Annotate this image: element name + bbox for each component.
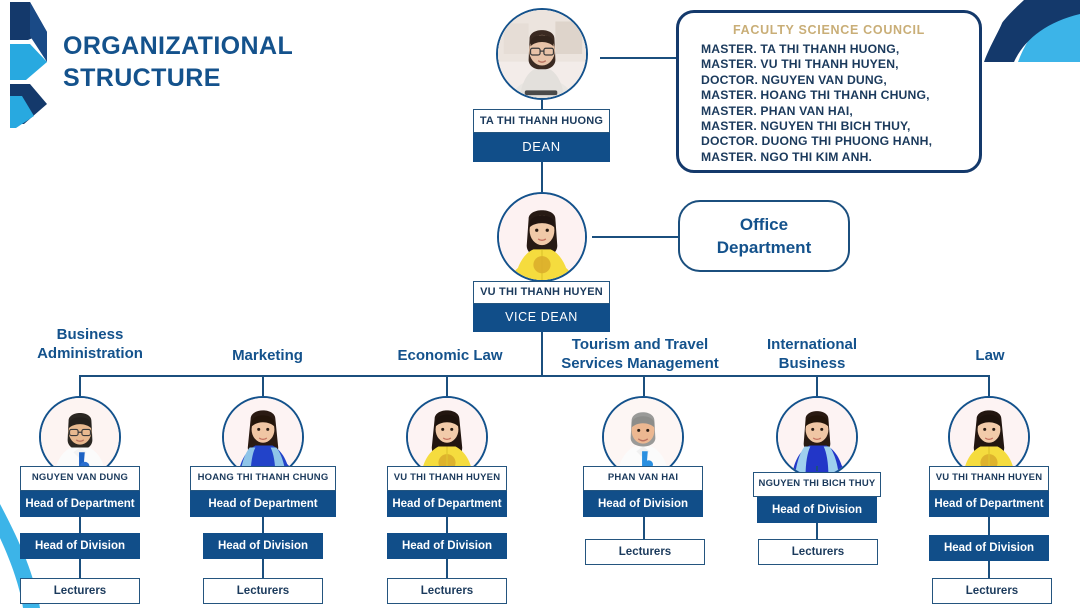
avatar-vice-dean: [497, 192, 587, 282]
council-title: FACULTY SCIENCE COUNCIL: [679, 23, 979, 37]
office-label-line1: Office: [717, 213, 811, 236]
dept-heading-line2: Services Management: [545, 354, 735, 373]
dept-leaf-box-6: Lecturers: [932, 578, 1052, 604]
connector-bus-to-dept-4: [643, 375, 645, 396]
dept-name-box-6: VU THI THANH HUYEN: [929, 466, 1049, 491]
page-title: ORGANIZATIONAL STRUCTURE: [63, 30, 443, 94]
dept-leaf-box-2: Lecturers: [203, 578, 323, 604]
connector-role-2-0-to-2-1: [262, 517, 264, 533]
dept-role-box-3-1: Head of Division: [387, 533, 507, 559]
dept-heading-business-administration: Business Administration: [10, 325, 170, 363]
dept-role-box-1-1: Head of Division: [20, 533, 140, 559]
council-member: DOCTOR. NGUYEN VAN DUNG,: [701, 73, 979, 88]
council-member: DOCTOR. DUONG THI PHUONG HANH,: [701, 134, 979, 149]
connector-role-3-0-to-3-1: [446, 517, 448, 533]
connector-dean-to-vicedean: [541, 162, 543, 192]
dept-role-box-2-0: Head of Department: [190, 491, 336, 517]
connector-bus-to-dept-1: [79, 375, 81, 396]
dept-name-box-5: NGUYEN THI BICH THUY: [753, 472, 881, 497]
connector-role-1-1-to-leaf: [79, 559, 81, 578]
dept-name-box-1: NGUYEN VAN DUNG: [20, 466, 140, 491]
dept-heading-line1: Tourism and Travel: [545, 335, 735, 354]
page-title-line1: ORGANIZATIONAL: [63, 32, 293, 60]
dept-heading-international-business: International Business: [737, 335, 887, 373]
dept-role-box-4-0: Head of Division: [583, 491, 703, 517]
dean-name-box: TA THI THANH HUONG: [473, 109, 610, 133]
faculty-science-council-panel: FACULTY SCIENCE COUNCIL MASTER. TA THI T…: [676, 10, 982, 173]
avatar-dean: [496, 8, 588, 100]
connector-role-5-0-to-leaf: [816, 523, 818, 539]
vice-dean-role-box: VICE DEAN: [473, 304, 610, 332]
connector-photo-to-box-5: [816, 466, 818, 471]
org-chart-slide: ORGANIZATIONAL STRUCTURE FACULTY SCIENCE…: [0, 0, 1080, 608]
connector-bus-to-dept-5: [816, 375, 818, 396]
connector-role-6-0-to-6-1: [988, 517, 990, 535]
dept-role-box-6-1: Head of Division: [929, 535, 1049, 561]
dept-leaf-box-3: Lecturers: [387, 578, 507, 604]
dept-heading-line1: International: [737, 335, 887, 354]
brand-logo-icon: [0, 0, 56, 128]
dept-name-box-2: HOANG THI THANH CHUNG: [190, 466, 336, 491]
council-member: MASTER. PHAN VAN HAI,: [701, 104, 979, 119]
dept-heading-line1: Economic Law: [375, 346, 525, 365]
page-title-line2: STRUCTURE: [63, 62, 443, 94]
council-member-list: MASTER. TA THI THANH HUONG, MASTER. VU T…: [701, 42, 979, 165]
council-member: MASTER. VU THI THANH HUYEN,: [701, 57, 979, 72]
dept-leaf-box-4: Lecturers: [585, 539, 705, 565]
dept-role-box-3-0: Head of Department: [387, 491, 507, 517]
vice-dean-name-box: VU THI THANH HUYEN: [473, 281, 610, 304]
dept-role-box-1-0: Head of Department: [20, 491, 140, 517]
dept-heading-line1: Business: [10, 325, 170, 344]
dept-heading-tourism: Tourism and Travel Services Management: [545, 335, 735, 373]
dept-name-box-4: PHAN VAN HAI: [583, 466, 703, 491]
dept-heading-economic-law: Economic Law: [375, 346, 525, 365]
dept-leaf-box-5: Lecturers: [758, 539, 878, 565]
connector-vicedean-to-office: [592, 236, 678, 238]
dept-role-box-6-0: Head of Department: [929, 491, 1049, 517]
dept-heading-marketing: Marketing: [195, 346, 340, 365]
dept-name-box-3: VU THI THANH HUYEN: [387, 466, 507, 491]
connector-role-3-1-to-leaf: [446, 559, 448, 578]
dept-heading-law: Law: [915, 346, 1065, 365]
dept-heading-line2: Business: [737, 354, 887, 373]
dept-leaf-box-1: Lecturers: [20, 578, 140, 604]
connector-bus-to-dept-2: [262, 375, 264, 396]
council-member: MASTER. HOANG THI THANH CHUNG,: [701, 88, 979, 103]
connector-role-6-1-to-leaf: [988, 561, 990, 578]
dean-role-box: DEAN: [473, 133, 610, 162]
connector-role-2-1-to-leaf: [262, 559, 264, 578]
departments-bus-line: [80, 375, 990, 377]
connector-bus-to-dept-3: [446, 375, 448, 396]
connector-bus-to-dept-6: [988, 375, 990, 396]
connector-dean-to-council: [600, 57, 676, 59]
council-member: MASTER. NGO THI KIM ANH.: [701, 150, 979, 165]
council-member: MASTER. NGUYEN THI BICH THUY,: [701, 119, 979, 134]
connector-role-4-0-to-leaf: [643, 517, 645, 539]
connector-dean-photo-to-box: [541, 100, 543, 109]
dept-role-box-5-0: Head of Division: [757, 497, 877, 523]
dept-heading-line2: Administration: [10, 344, 170, 363]
connector-role-1-0-to-1-1: [79, 517, 81, 533]
dept-heading-line1: Law: [915, 346, 1065, 365]
corner-decoration-top-right: [984, 0, 1080, 62]
office-label-line2: Department: [717, 236, 811, 259]
connector-vicedean-to-bus: [541, 332, 543, 376]
council-member: MASTER. TA THI THANH HUONG,: [701, 42, 979, 57]
dept-heading-line1: Marketing: [195, 346, 340, 365]
dept-role-box-2-1: Head of Division: [203, 533, 323, 559]
office-department-box: Office Department: [678, 200, 850, 272]
